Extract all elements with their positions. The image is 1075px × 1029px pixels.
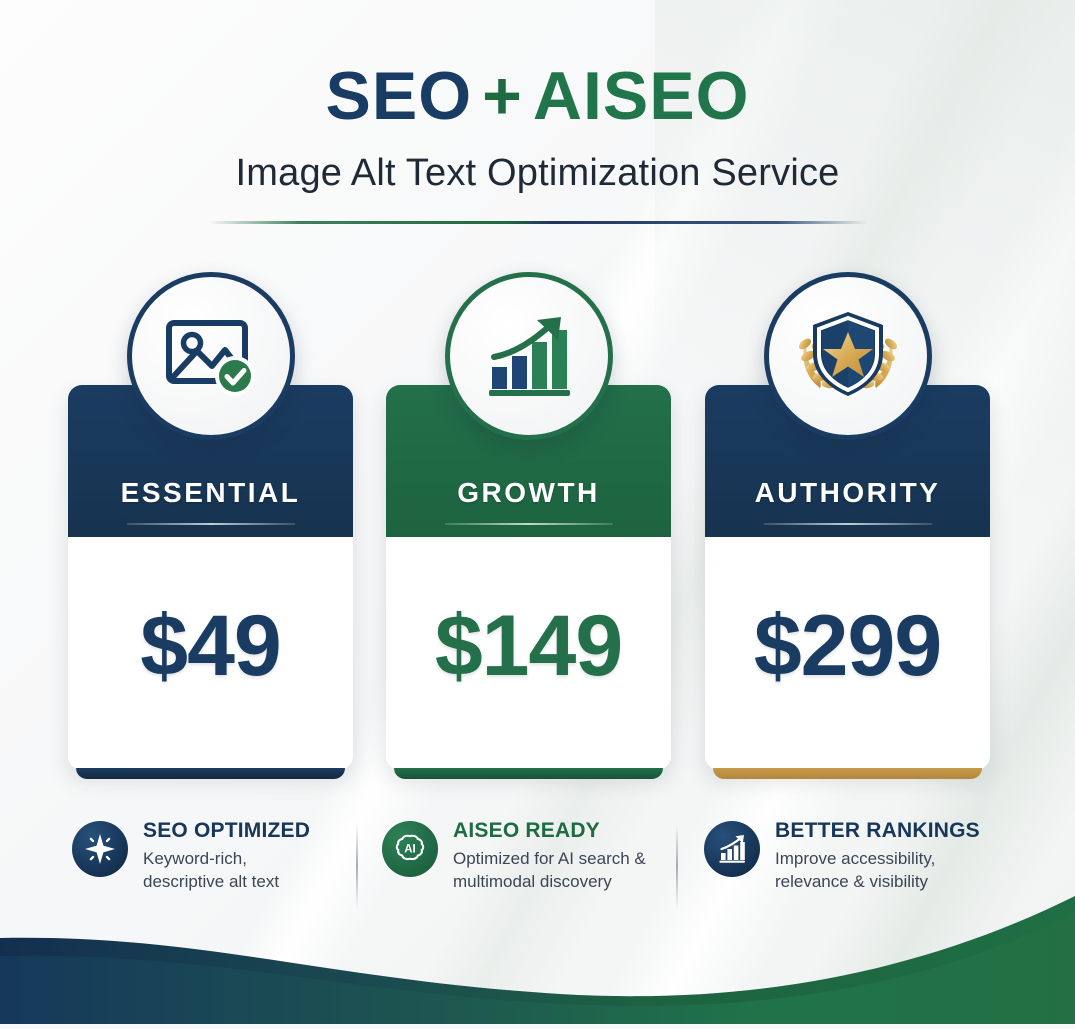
feature-row: SEO OPTIMIZED Keyword-rich, descriptive … <box>0 818 1075 923</box>
card-title-authority: AUTHORITY <box>755 477 941 509</box>
title-seo: SEO <box>326 58 473 134</box>
card-body-authority: $299 <box>705 537 990 770</box>
card-title-essential: ESSENTIAL <box>121 477 301 509</box>
card-body-essential: $49 <box>68 537 353 770</box>
feature-desc-line2: descriptive alt text <box>143 872 279 891</box>
header: SEO+AISEO Image Alt Text Optimization Se… <box>0 0 1075 224</box>
feature-desc-line1: Keyword-rich, <box>143 849 247 868</box>
title-plus: + <box>472 58 533 134</box>
card-header-authority: AUTHORITY <box>705 385 990 537</box>
card-accent-bar-essential <box>76 768 345 779</box>
feature-desc-line2: multimodal discovery <box>453 872 612 891</box>
card-title-underline <box>127 523 295 525</box>
svg-text:AI: AI <box>404 843 416 855</box>
price-growth: $149 <box>435 597 622 696</box>
card-title-growth: GROWTH <box>457 477 600 509</box>
feature-text: SEO OPTIMIZED Keyword-rich, descriptive … <box>143 818 310 893</box>
feature-description: Improve accessibility, relevance & visib… <box>775 848 980 893</box>
pricing-card-essential[interactable]: ESSENTIAL $49 <box>68 385 353 770</box>
growth-chart-icon <box>445 272 613 440</box>
feature-title: SEO OPTIMIZED <box>143 819 310 843</box>
sparkle-icon <box>72 821 128 877</box>
pricing-card-authority[interactable]: AUTHORITY $299 <box>705 385 990 770</box>
page-subtitle: Image Alt Text Optimization Service <box>0 152 1075 195</box>
card-header-essential: ESSENTIAL <box>68 385 353 537</box>
feature-title: BETTER RANKINGS <box>775 819 980 843</box>
feature-desc-line1: Optimized for AI search & <box>453 849 646 868</box>
feature-better-rankings: BETTER RANKINGS Improve accessibility, r… <box>698 818 998 893</box>
card-accent-bar-growth <box>394 768 663 779</box>
card-body-growth: $149 <box>386 537 671 770</box>
price-essential: $49 <box>140 597 281 696</box>
pricing-card-growth[interactable]: GROWTH $149 <box>386 385 671 770</box>
ranking-chart-icon <box>704 821 760 877</box>
feature-text: AISEO READY Optimized for AI search & mu… <box>453 818 646 893</box>
feature-separator <box>676 824 678 908</box>
image-check-icon <box>127 272 295 440</box>
feature-desc-line1: Improve accessibility, <box>775 849 935 868</box>
feature-title: AISEO READY <box>453 819 646 843</box>
card-title-underline <box>445 523 613 525</box>
header-divider <box>208 221 868 224</box>
card-header-growth: GROWTH <box>386 385 671 537</box>
shield-laurel-icon <box>764 272 932 440</box>
ai-brain-icon: AI <box>382 821 438 877</box>
card-title-underline <box>764 523 932 525</box>
feature-aiseo-ready: AI AISEO READY Optimized for AI search &… <box>376 818 676 893</box>
pricing-cards: ESSENTIAL $49 GROWTH <box>0 385 1075 775</box>
page-title: SEO+AISEO <box>0 62 1075 130</box>
feature-separator <box>356 824 358 908</box>
feature-description: Optimized for AI search & multimodal dis… <box>453 848 646 893</box>
feature-seo-optimized: SEO OPTIMIZED Keyword-rich, descriptive … <box>66 818 356 893</box>
feature-desc-line2: relevance & visibility <box>775 872 928 891</box>
card-accent-bar-authority <box>713 768 982 779</box>
feature-text: BETTER RANKINGS Improve accessibility, r… <box>775 818 980 893</box>
title-aiseo: AISEO <box>533 58 750 134</box>
price-authority: $299 <box>754 597 941 696</box>
feature-description: Keyword-rich, descriptive alt text <box>143 848 310 893</box>
